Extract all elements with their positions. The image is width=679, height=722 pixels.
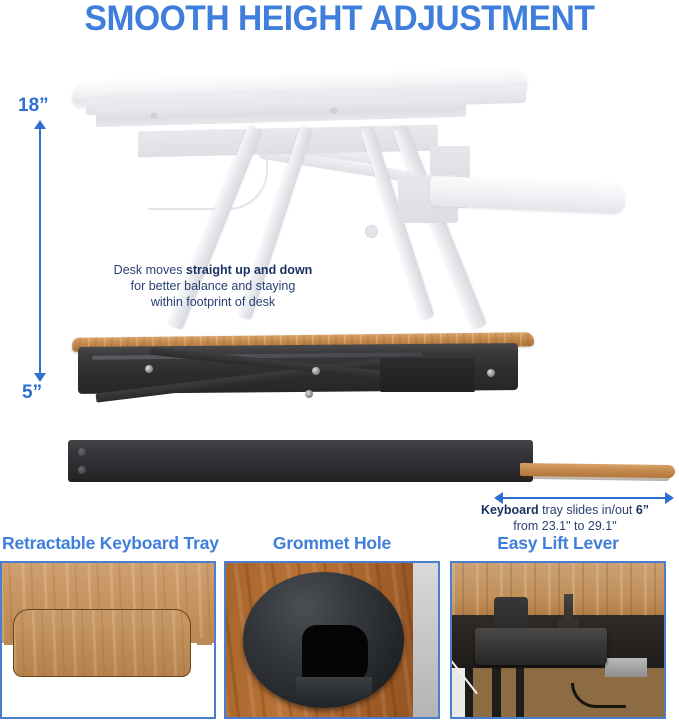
feature-heading: Retractable Keyboard Tray	[0, 531, 216, 555]
frame-slat	[492, 668, 500, 717]
feature-panel-retractable-keyboard-tray: Retractable Keyboard Tray	[0, 531, 216, 722]
feature-panel-grommet-hole: Grommet Hole	[224, 531, 440, 722]
arrow-shaft	[39, 126, 41, 376]
infographic-root: SMOOTH HEIGHT ADJUSTMENT	[0, 0, 679, 722]
center-note-line1-bold: straight up and down	[186, 263, 312, 277]
center-note-line1-prefix: Desk moves	[114, 263, 186, 277]
arrow-head-down-icon	[34, 373, 46, 382]
tray-notch-right	[197, 638, 212, 644]
desk-base-bolt	[78, 448, 86, 456]
height-min-label: 5”	[22, 382, 42, 404]
center-note: Desk moves straight up and down for bett…	[88, 262, 338, 310]
feature-panel-easy-lift-lever: Easy Lift Lever	[450, 531, 666, 722]
page-title: SMOOTH HEIGHT ADJUSTMENT	[14, 0, 666, 39]
keyboard-note-line1: Keyboard tray slides in/out 6”	[452, 502, 678, 518]
hero-illustration: 18” 5” Desk moves straight up and down f…	[0, 40, 679, 520]
background-strip	[413, 563, 438, 717]
keyboard-note-bold-start: Keyboard	[481, 503, 539, 517]
grommet-lip	[296, 677, 372, 702]
feature-heading: Easy Lift Lever	[450, 531, 666, 555]
metal-rail	[605, 658, 647, 676]
desk-screw	[305, 390, 313, 398]
desktop-wood-underside	[452, 563, 664, 617]
frame-slat	[516, 668, 524, 717]
desk-base	[68, 440, 533, 482]
desk-screw	[145, 365, 153, 373]
desk-screw	[312, 367, 320, 375]
desk-screw	[487, 369, 495, 377]
feature-panels: Retractable Keyboard Tray Grommet Hole E…	[0, 531, 679, 722]
arrow-shaft	[500, 497, 668, 499]
grommet-hole-photo	[224, 561, 440, 719]
center-note-line3: within footprint of desk	[88, 294, 338, 310]
desk-lift-module	[380, 358, 475, 392]
height-range-arrow-icon	[33, 120, 47, 382]
lift-lever-handle	[475, 628, 606, 665]
keyboard-note-middle: tray slides in/out	[539, 503, 636, 517]
lift-lever-photo	[450, 561, 666, 719]
height-max-label: 18”	[18, 95, 49, 117]
sliding-tray-wood	[13, 609, 191, 677]
center-note-line1: Desk moves straight up and down	[88, 262, 338, 278]
desk-base-bolt	[78, 466, 86, 474]
feature-heading: Grommet Hole	[224, 531, 440, 555]
keyboard-tray	[520, 463, 675, 478]
center-note-line2: for better balance and staying	[88, 278, 338, 294]
keyboard-note: Keyboard tray slides in/out 6” from 23.1…	[452, 502, 678, 534]
keyboard-tray-photo	[0, 561, 216, 719]
keyboard-note-bold-end: 6”	[636, 503, 649, 517]
